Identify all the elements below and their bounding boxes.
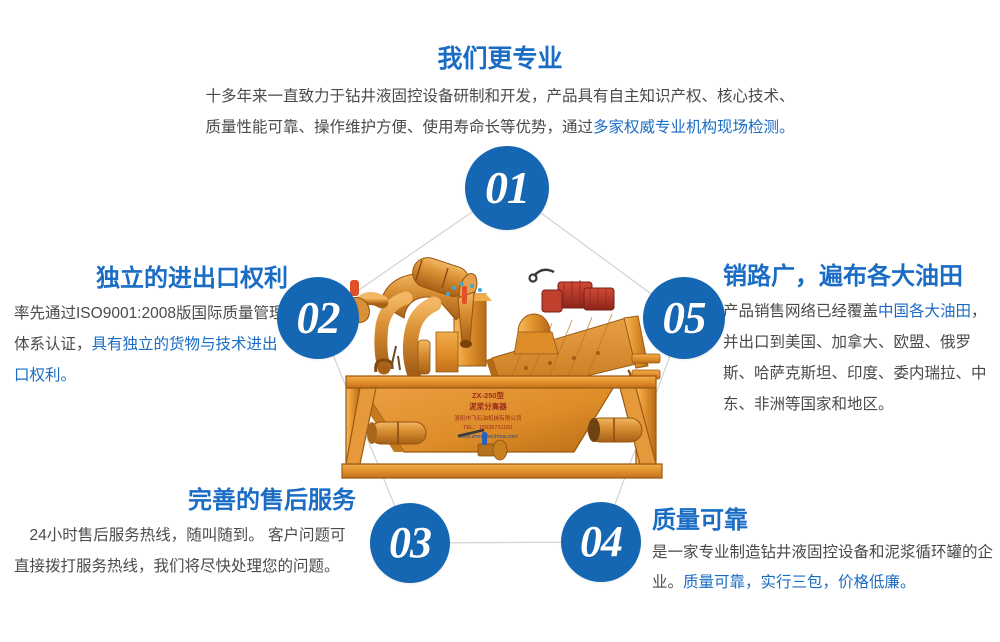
section-05-heading: 销路广，遍布各大油田: [723, 262, 995, 292]
section-05-body-plain-1: 产品销售网络已经覆盖: [723, 303, 878, 320]
svg-text:洛阳市飞石油机械有限公司: 洛阳市飞石油机械有限公司: [454, 414, 521, 422]
section-05-body-highlight: 中国各大油田: [878, 303, 971, 320]
step-badge-04-number: 04: [580, 520, 622, 564]
section-02-body: 率先通过ISO9001:2008版国际质量管理体系认证，具有独立的货物与技术进出…: [14, 298, 292, 391]
section-01-body-line2-highlight: 多家权威专业机构现场检测。: [593, 119, 795, 136]
section-03-after-sales-service: 完善的售后服务 24小时售后服务热线，随叫随到。 客户问题可直接拨打服务热线，我…: [14, 486, 360, 582]
step-badge-02-number: 02: [297, 296, 340, 341]
step-badge-03[interactable]: 03: [370, 503, 450, 583]
hopper-tank: ZX-250型 泥浆分离器 洛阳市飞石油机械有限公司 TEL：159367310…: [348, 380, 618, 460]
step-badge-01-number: 01: [485, 165, 529, 211]
section-01-body: 十多年来一直致力于钻井液固控设备研制和开发，产品具有自主知识产权、核心技术、 质…: [140, 81, 860, 143]
section-02-import-export-rights: 独立的进出口权利 率先通过ISO9001:2008版国际质量管理体系认证，具有独…: [14, 264, 292, 391]
vibrator-motors: [530, 270, 615, 312]
machine-photo: ZX-250型 泥浆分离器 洛阳市飞石油机械有限公司 TEL：159367310…: [336, 246, 676, 486]
section-01-heading: 我们更专业: [140, 44, 860, 75]
section-03-body: 24小时售后服务热线，随叫随到。 客户问题可直接拨打服务热线，我们将尽快处理您的…: [14, 520, 360, 582]
section-03-heading: 完善的售后服务: [14, 486, 360, 516]
step-badge-01[interactable]: 01: [465, 146, 549, 230]
section-01-body-line2-plain: 质量性能可靠、操作维护方便、使用寿命长等优势，通过: [205, 119, 593, 136]
section-04-body-highlight: 质量可靠，实行三包，价格低廉。: [683, 574, 916, 591]
svg-text:ZX-250型: ZX-250型: [472, 390, 505, 400]
section-02-heading: 独立的进出口权利: [14, 264, 292, 294]
section-01-body-line1: 十多年来一直致力于钻井液固控设备研制和开发，产品具有自主知识产权、核心技术、: [205, 88, 794, 105]
svg-text:泥浆分离器: 泥浆分离器: [469, 401, 507, 411]
section-01-more-professional: 我们更专业 十多年来一直致力于钻井液固控设备研制和开发，产品具有自主知识产权、核…: [140, 44, 860, 143]
section-04-reliable-quality: 质量可靠 是一家专业制造钻井液固控设备和泥浆循环罐的企业。质量可靠，实行三包，价…: [652, 506, 996, 598]
step-badge-05-number: 05: [663, 296, 706, 341]
section-04-body: 是一家专业制造钻井液固控设备和泥浆循环罐的企业。质量可靠，实行三包，价格低廉。: [652, 538, 996, 598]
step-badge-04[interactable]: 04: [561, 502, 641, 582]
step-badge-03-number: 03: [389, 521, 431, 565]
section-04-heading: 质量可靠: [652, 506, 996, 536]
section-05-body: 产品销售网络已经覆盖中国各大油田，并出口到美国、加拿大、欧盟、俄罗斯、哈萨克斯坦…: [723, 296, 995, 420]
section-05-wide-sales-network: 销路广，遍布各大油田 产品销售网络已经覆盖中国各大油田，并出口到美国、加拿大、欧…: [723, 262, 995, 420]
step-badge-05[interactable]: 05: [643, 277, 725, 359]
step-badge-02[interactable]: 02: [277, 277, 359, 359]
svg-text:TEL：15936731031: TEL：15936731031: [463, 425, 513, 431]
infographic-canvas: ZX-250型 泥浆分离器 洛阳市飞石油机械有限公司 TEL：159367310…: [0, 0, 1000, 642]
